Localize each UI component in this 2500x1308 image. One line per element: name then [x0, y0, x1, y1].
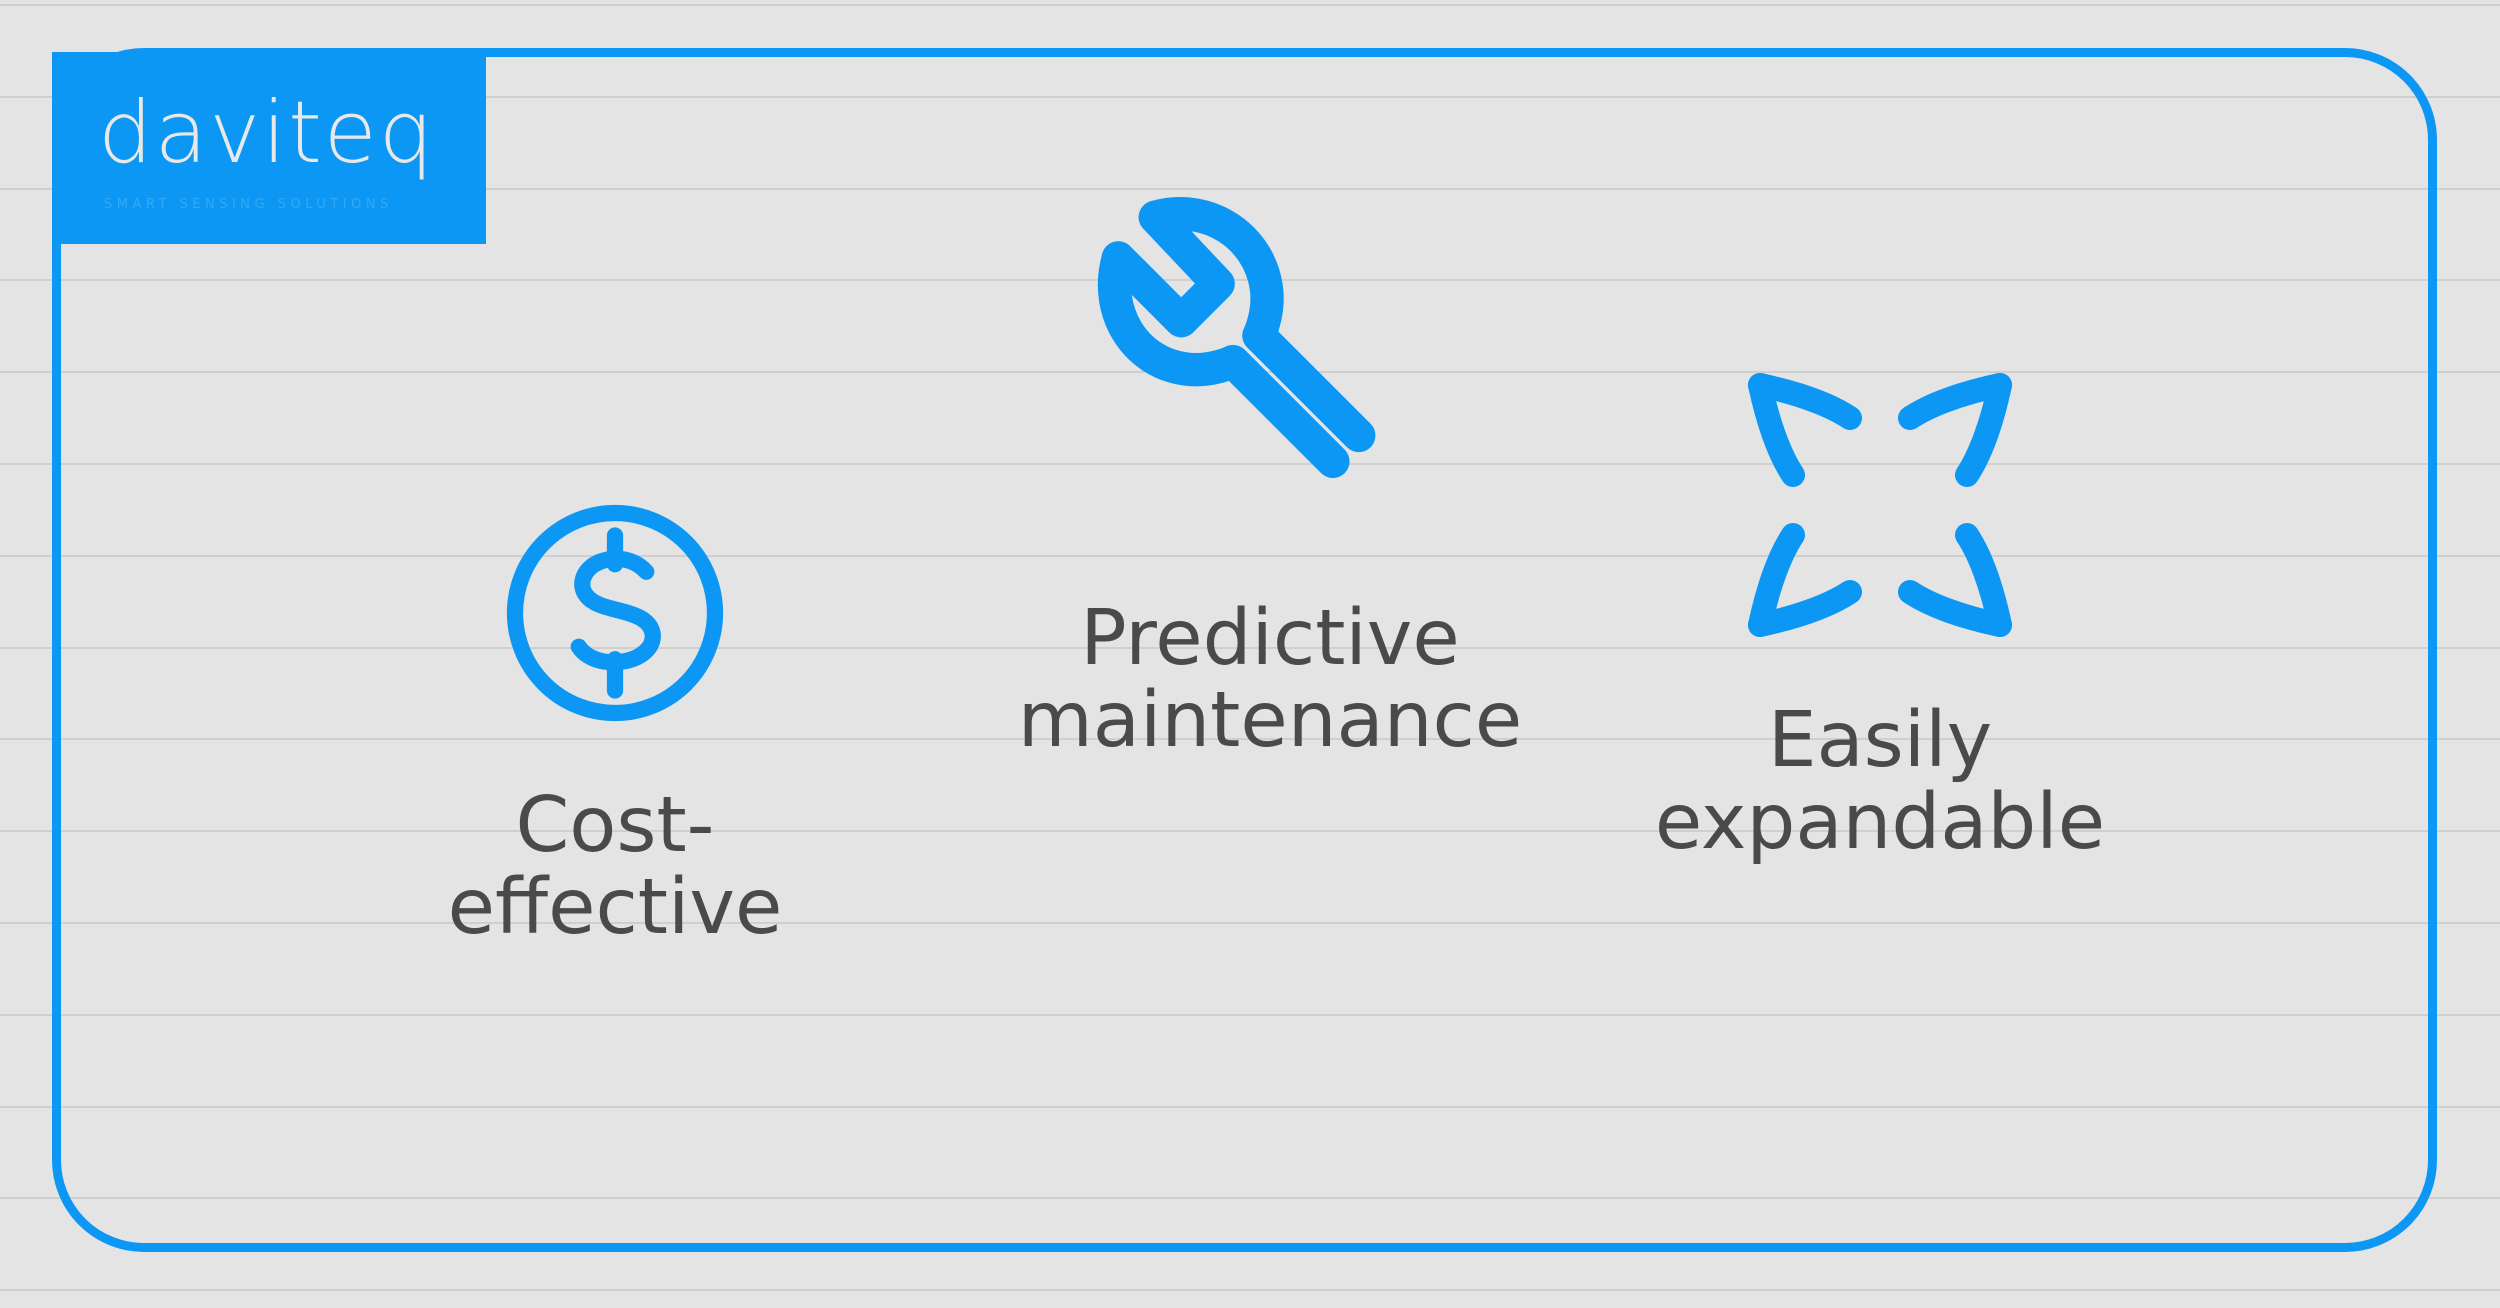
- logo-tagline: SMART SENSING SOLUTIONS: [104, 198, 393, 211]
- slide-canvas: daviteq SMART SENSING SOLUTIONS Cost- ef…: [0, 0, 2500, 1308]
- logo-wordmark: daviteq: [98, 90, 435, 176]
- feature-cost-effective-label: Cost- effective: [448, 785, 783, 948]
- dollar-circle-icon: [490, 488, 740, 743]
- feature-predictive-maintenance: Predictive maintenance: [960, 195, 1580, 761]
- feature-predictive-maintenance-label: Predictive maintenance: [1018, 598, 1522, 761]
- expand-corners-icon: [1730, 355, 2030, 660]
- feature-cost-effective: Cost- effective: [420, 488, 810, 948]
- gridline: [0, 1289, 2500, 1291]
- daviteq-logo-badge: daviteq SMART SENSING SOLUTIONS: [52, 52, 486, 244]
- feature-easily-expandable-label: Easily expandable: [1655, 700, 2105, 863]
- gridline: [0, 4, 2500, 6]
- feature-easily-expandable: Easily expandable: [1590, 355, 2170, 863]
- wrench-icon: [1085, 195, 1455, 570]
